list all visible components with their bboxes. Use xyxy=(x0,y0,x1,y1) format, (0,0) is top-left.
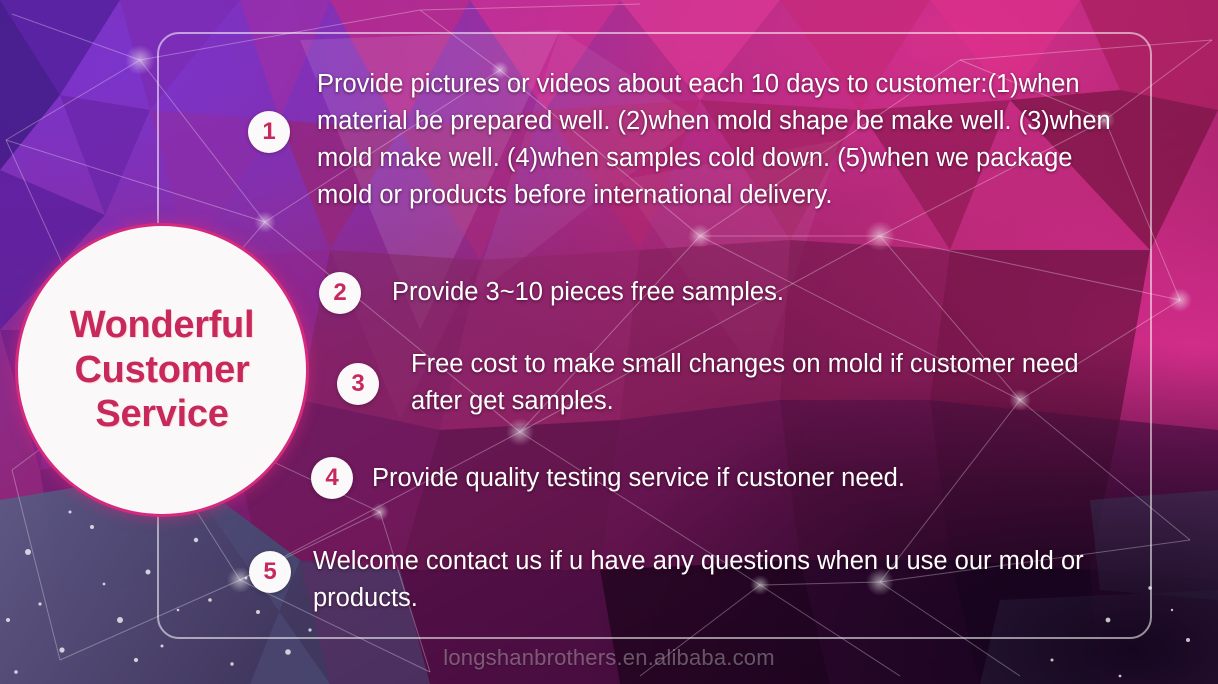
list-item-number-badge: 3 xyxy=(337,363,379,405)
hero-circle-label: Wonderful Customer Service xyxy=(70,303,254,437)
list-item-text: Welcome contact us if u have any questio… xyxy=(313,543,1143,617)
list-item-text: Provide 3~10 pieces free samples. xyxy=(392,274,1112,311)
list-item-number-badge: 5 xyxy=(249,551,291,593)
slide-canvas: Wonderful Customer Service 1 Provide pic… xyxy=(0,0,1218,684)
list-item-number-badge: 4 xyxy=(311,457,353,499)
list-item-number-badge: 1 xyxy=(248,111,290,153)
list-item-text: Provide pictures or videos about each 10… xyxy=(317,66,1129,214)
list-item-text: Provide quality testing service if custo… xyxy=(372,460,1132,497)
hero-circle-badge: Wonderful Customer Service xyxy=(18,226,306,514)
list-item-number-badge: 2 xyxy=(319,272,361,314)
list-item-text: Free cost to make small changes on mold … xyxy=(411,346,1111,420)
watermark-url: longshanbrothers.en.alibaba.com xyxy=(0,645,1218,671)
